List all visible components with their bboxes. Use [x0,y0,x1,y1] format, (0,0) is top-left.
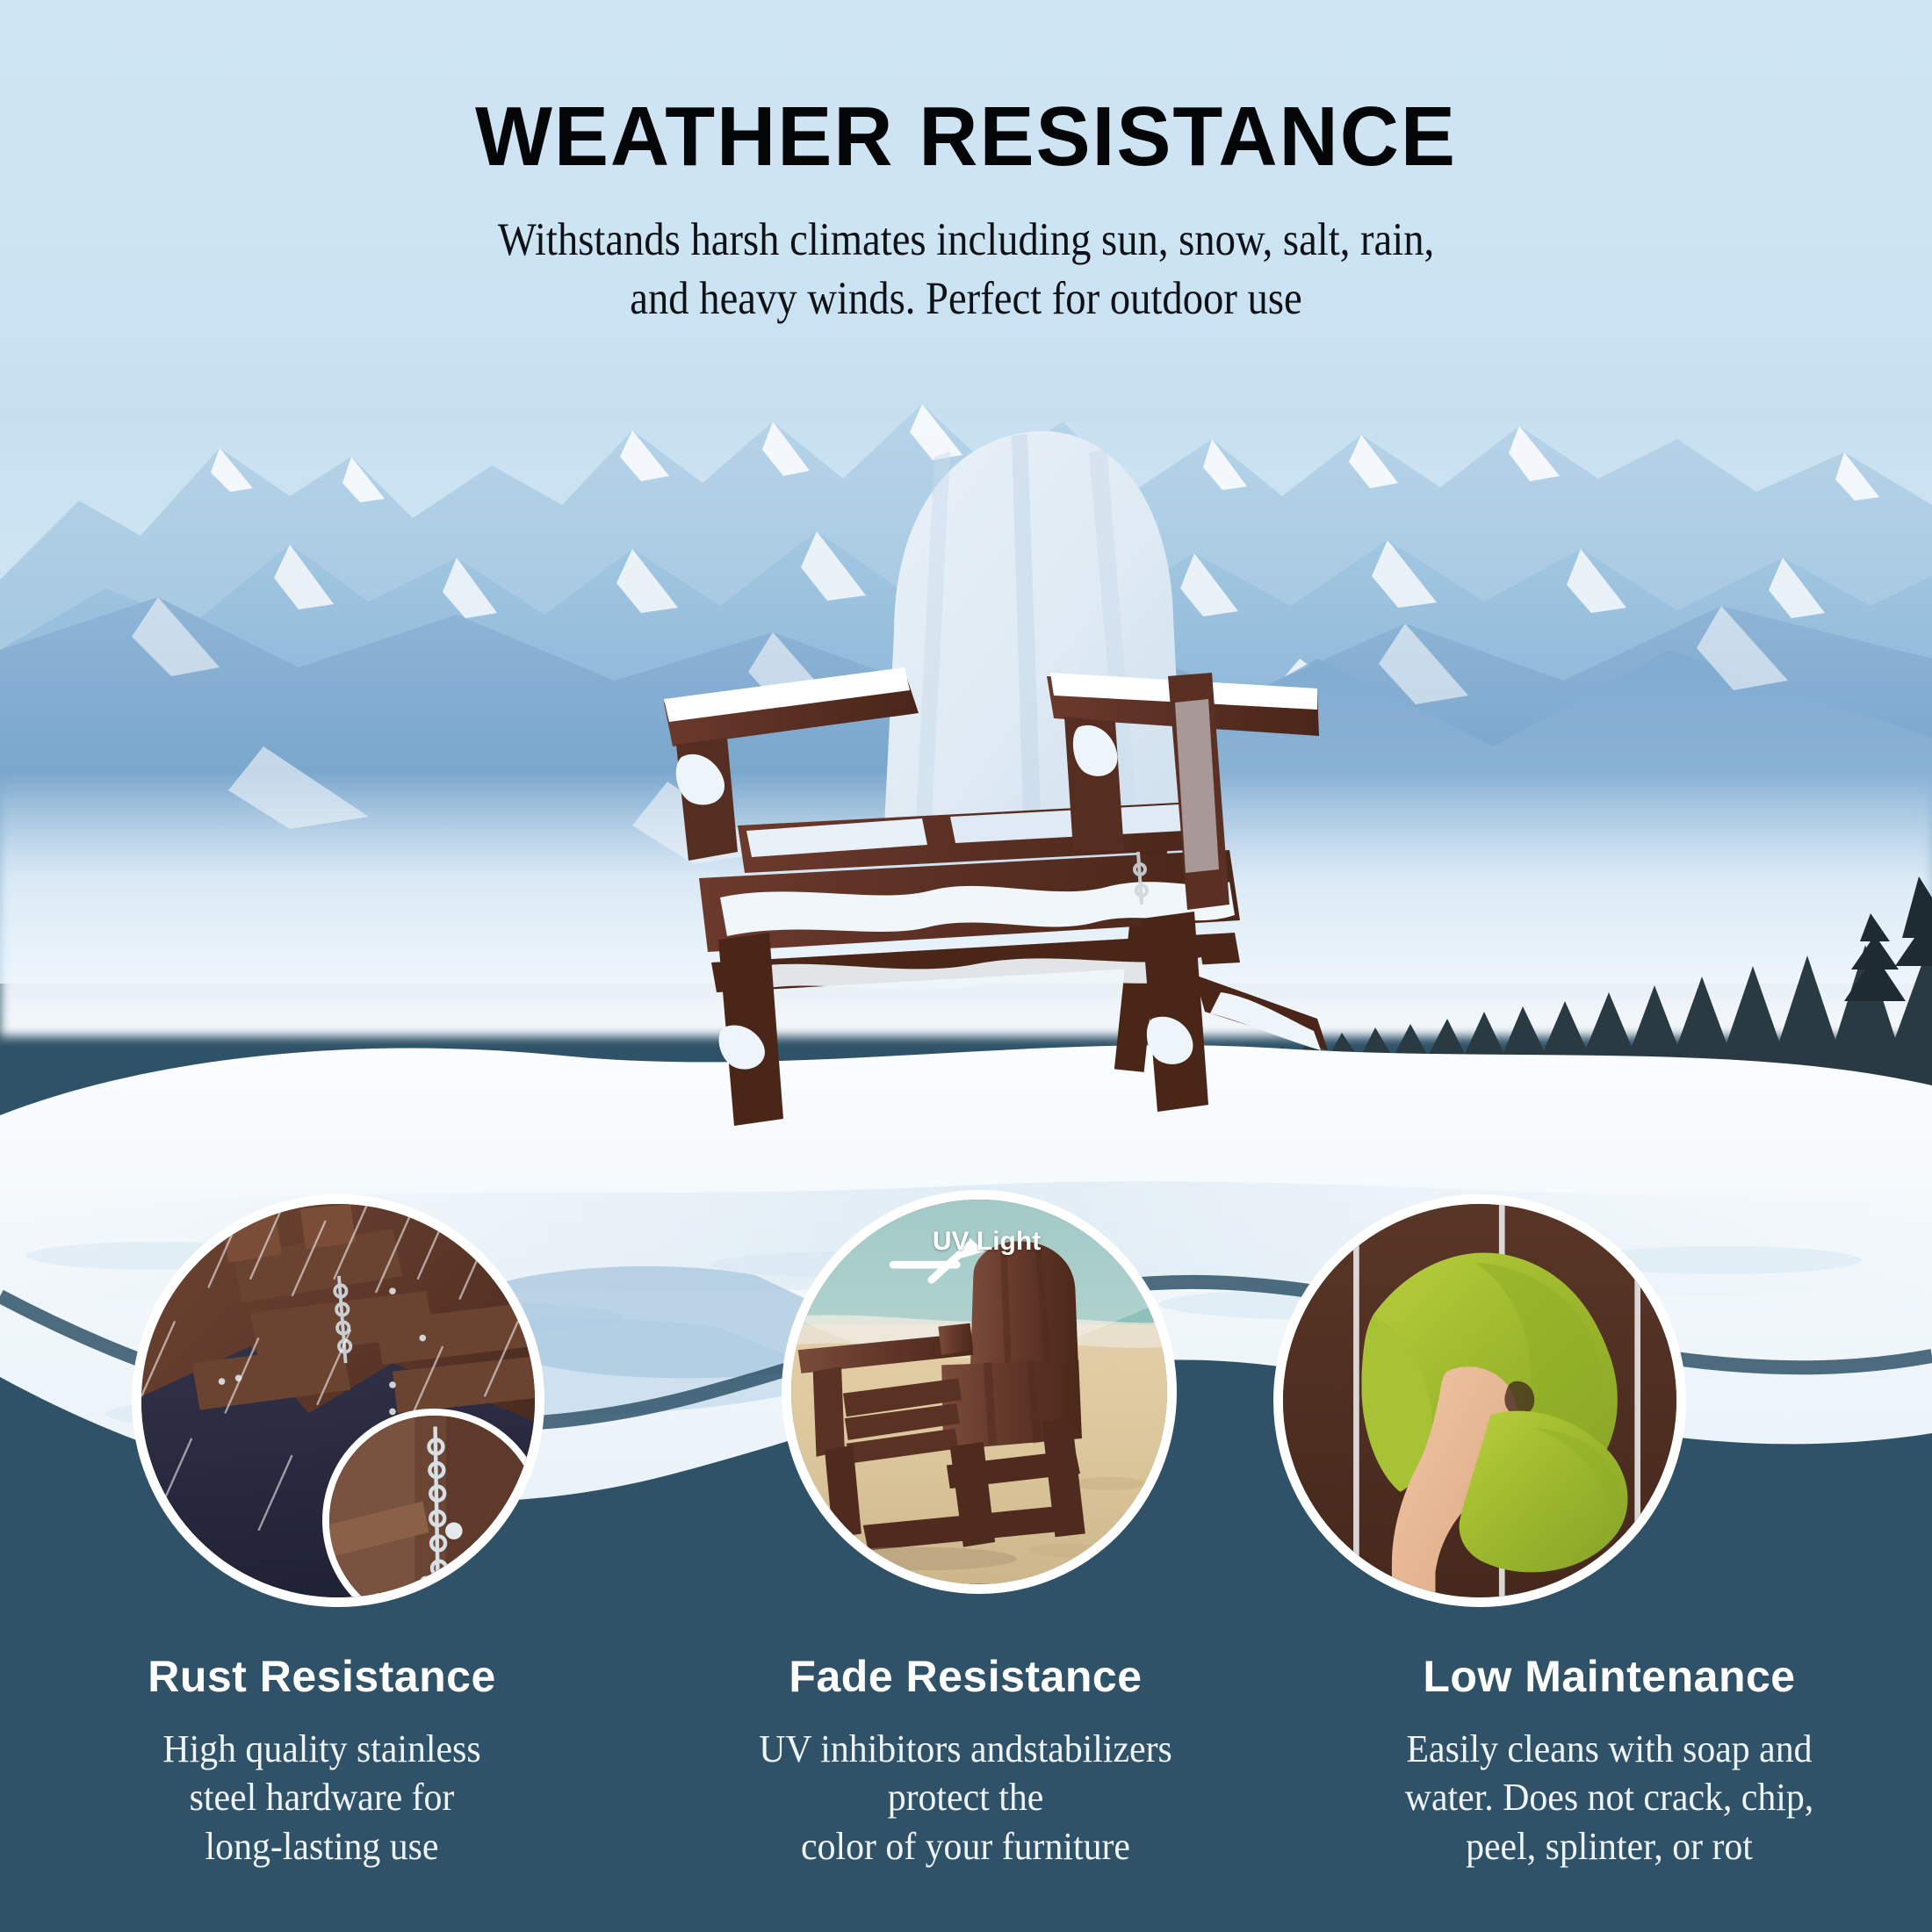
page-title: WEATHER RESISTANCE [29,95,1903,179]
feature-desc-line-2: steel hardware for [45,1773,600,1821]
feature-image-rust-resistance [132,1194,544,1607]
header-block: WEATHER RESISTANCE Withstands harsh clim… [0,0,1932,328]
feature-desc-rust: High quality stainless steel hardware fo… [45,1725,600,1871]
feature-column-fade-resistance: Fade Resistance UV inhibitors andstabili… [644,1651,1287,1871]
feature-image-fade-resistance: UV Light [782,1190,1177,1594]
uv-light-annotation: UV Light [933,1227,1041,1257]
feature-desc-line-2: protect the [688,1773,1244,1821]
feature-column-low-maintenance: Low Maintenance Easily cleans with soap … [1287,1651,1931,1871]
feature-image-low-maintenance [1273,1194,1686,1607]
fade-resistance-photo [791,1200,1167,1584]
feature-desc-maintenance: Easily cleans with soap and water. Does … [1332,1725,1887,1871]
feature-desc-line-3: peel, splinter, or rot [1332,1822,1887,1871]
infographic-canvas: WEATHER RESISTANCE Withstands harsh clim… [0,0,1932,1932]
subtitle-line-2: and heavy winds. Perfect for outdoor use [116,270,1816,328]
low-maintenance-photo [1283,1204,1676,1597]
feature-desc-line-1: High quality stainless [45,1725,600,1773]
page-subtitle: Withstands harsh climates including sun,… [116,211,1816,328]
feature-title-fade: Fade Resistance [674,1651,1258,1702]
feature-desc-line-1: UV inhibitors andstabilizers [688,1725,1244,1773]
hero-chair-snow-covered [615,413,1335,1150]
feature-column-rust-resistance: Rust Resistance High quality stainless s… [0,1651,644,1871]
feature-title-rust: Rust Resistance [30,1651,614,1702]
feature-desc-line-3: color of your furniture [688,1822,1244,1871]
feature-text-row: Rust Resistance High quality stainless s… [0,1651,1932,1871]
feature-title-maintenance: Low Maintenance [1317,1651,1901,1702]
feature-desc-line-3: long-lasting use [45,1822,600,1871]
subtitle-line-1: Withstands harsh climates including sun,… [116,211,1816,270]
feature-desc-fade: UV inhibitors andstabilizers protect the… [688,1725,1244,1871]
feature-desc-line-2: water. Does not crack, chip, [1332,1773,1887,1821]
feature-desc-line-1: Easily cleans with soap and [1332,1725,1887,1773]
